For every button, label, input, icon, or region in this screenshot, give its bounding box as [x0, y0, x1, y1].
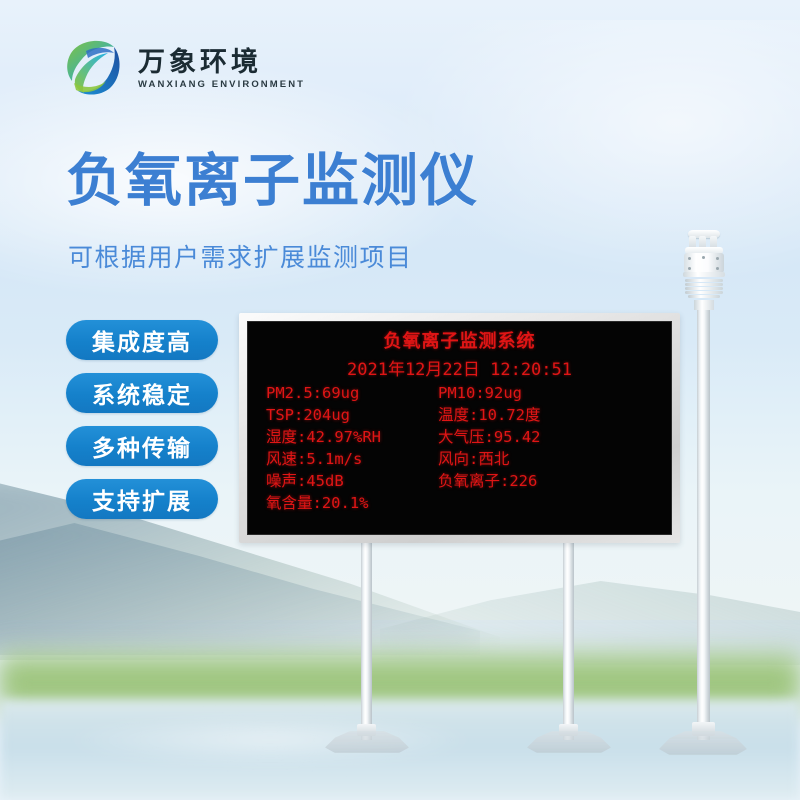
sensor-neck — [694, 300, 714, 310]
sensor-screw — [688, 257, 691, 260]
feature-badge-stability: 系统稳定 — [66, 373, 218, 413]
feature-badge-integration: 集成度高 — [66, 320, 218, 360]
brand-wordmark: 万象环境 WANXIANG ENVIRONMENT — [138, 44, 305, 90]
radiation-shield-fin — [688, 295, 720, 298]
reading-negative-ion: 负氧离子:226 — [438, 471, 671, 492]
reading-pressure: 大气压:95.42 — [438, 427, 671, 448]
brand-logo: 万象环境 WANXIANG ENVIRONMENT — [60, 33, 305, 101]
feature-badge-expansion: 支持扩展 — [66, 479, 218, 519]
led-screen-title: 负氧离子监测系统 — [248, 327, 671, 353]
brand-name-en: WANXIANG ENVIRONMENT — [138, 79, 305, 90]
feature-badge-list: 集成度高 系统稳定 多种传输 支持扩展 — [66, 320, 218, 519]
led-display-board: 负氧离子监测系统 2021年12月22日 12:20:51 PM2.5:69ug… — [239, 313, 680, 543]
reading-noise: 噪声:45dB — [266, 471, 438, 492]
display-support-pole-left — [361, 542, 372, 740]
page-subtitle: 可根据用户需求扩展监测项目 — [68, 238, 413, 274]
led-readings-grid: PM2.5:69ug PM10:92ug TSP:204ug 温度:10.72度… — [248, 383, 671, 514]
sensor-screw — [716, 267, 719, 270]
sensor-mast-pole — [697, 300, 710, 740]
radiation-shield-fin — [685, 287, 723, 290]
sensor-mid-band — [683, 272, 725, 277]
reading-pm25: PM2.5:69ug — [266, 383, 438, 404]
led-screen-datetime: 2021年12月22日 12:20:51 — [248, 355, 671, 380]
reading-oxygen: 氧含量:20.1% — [266, 493, 438, 514]
sensor-screw — [702, 256, 705, 259]
green-field-band-2 — [0, 660, 800, 704]
sensor-screw — [716, 257, 719, 260]
led-screen: 负氧离子监测系统 2021年12月22日 12:20:51 PM2.5:69ug… — [247, 321, 672, 535]
display-support-pole-right — [563, 542, 574, 740]
radiation-shield-fin — [685, 291, 723, 294]
radiation-shield-fin — [685, 283, 723, 286]
radiation-shield-fin — [685, 279, 723, 282]
reading-tsp: TSP:204ug — [266, 405, 438, 426]
reading-humidity: 湿度:42.97%RH — [266, 427, 438, 448]
sensor-body — [684, 253, 724, 273]
reading-pm10: PM10:92ug — [438, 383, 671, 404]
reading-temperature: 温度:10.72度 — [438, 405, 671, 426]
brand-name-cn: 万象环境 — [138, 48, 305, 76]
reading-wind-direction: 风向:西北 — [438, 449, 671, 470]
page-title: 负氧离子监测仪 — [66, 152, 479, 212]
water-sheen — [60, 715, 480, 765]
sensor-screw — [688, 267, 691, 270]
feature-badge-transmission: 多种传输 — [66, 426, 218, 466]
reading-wind-speed: 风速:5.1m/s — [266, 449, 438, 470]
ultrasonic-weather-sensor-icon — [676, 228, 732, 308]
globe-swirl-icon — [60, 33, 128, 101]
